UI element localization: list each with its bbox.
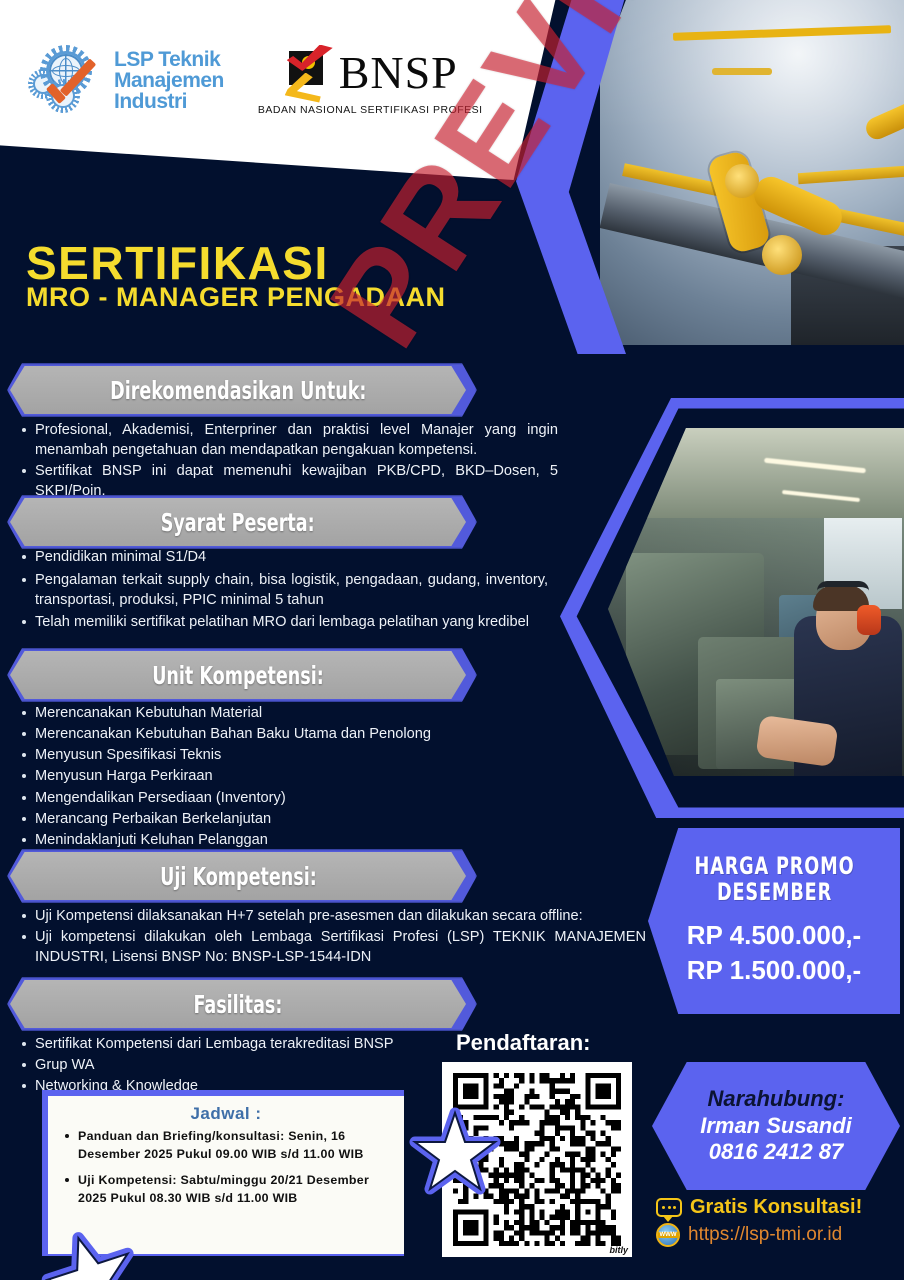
- list-item: Grup WA: [18, 1055, 458, 1075]
- list-syarat: Pendidikan minimal S1/D4 Pengalaman terk…: [18, 547, 548, 635]
- website-url[interactable]: https://lsp-tmi.or.id: [688, 1224, 842, 1246]
- promo-heading-line2: DESEMBER: [694, 880, 854, 906]
- contact-name: Irman Susandi: [700, 1113, 852, 1140]
- jadwal-item: Panduan dan Briefing/konsultasi: Senin, …: [62, 1128, 390, 1163]
- qr-brand-label: bitly: [609, 1245, 628, 1255]
- registration-label: Pendaftaran:: [456, 1030, 590, 1056]
- contact-phone: 0816 2412 87: [709, 1139, 844, 1166]
- list-item: Sertifikat Kompetensi dari Lembaga terak…: [18, 1034, 458, 1054]
- gratis-konsultasi-label: Gratis Konsultasi!: [690, 1196, 862, 1219]
- lsp-line-2: Manajemen: [114, 70, 224, 91]
- poster-root: LSP Teknik Manajemen Industri BNSP BADAN…: [0, 0, 904, 1280]
- bnsp-wordmark: BNSP: [339, 51, 458, 95]
- checkmark-icon: [44, 67, 98, 113]
- section-heading-uji: Uji Kompetensi:: [10, 852, 466, 900]
- lsp-logo-text: LSP Teknik Manajemen Industri: [114, 49, 224, 112]
- list-item: Uji kompetensi dilakukan oleh Lembaga Se…: [18, 927, 646, 967]
- promo-price-old: RP 4.500.000,-: [687, 918, 861, 953]
- list-item: Mengendalikan Persediaan (Inventory): [18, 788, 558, 808]
- bnsp-subtitle: BADAN NASIONAL SERTIFIKASI PROFESI: [258, 104, 483, 116]
- logo-bar: LSP Teknik Manajemen Industri BNSP BADAN…: [0, 0, 560, 160]
- contact-links: Gratis Konsultasi! WWW https://lsp-tmi.o…: [656, 1196, 904, 1251]
- bnsp-figure-icon: [283, 45, 335, 101]
- section-heading-direkomendasikan: Direkomendasikan Untuk:: [10, 366, 466, 414]
- globe-www-icon: WWW: [656, 1223, 680, 1247]
- list-item: Merancang Perbaikan Berkelanjutan: [18, 809, 558, 829]
- list-uji-kompetensi: Uji Kompetensi dilaksanakan H+7 setelah …: [18, 906, 646, 968]
- promo-heading-line1: HARGA PROMO: [694, 854, 854, 880]
- list-item: Profesional, Akademisi, Enterpriner dan …: [18, 420, 558, 460]
- list-unit-kompetensi: Merencanakan Kebutuhan Material Merencan…: [18, 703, 558, 851]
- list-item: Pengalaman terkait supply chain, bisa lo…: [18, 570, 548, 610]
- page-subtitle: MRO - MANAGER PENGADAAN: [26, 282, 446, 313]
- bnsp-logo: BNSP BADAN NASIONAL SERTIFIKASI PROFESI: [258, 45, 483, 116]
- list-direkomendasikan: Profesional, Akademisi, Enterpriner dan …: [18, 420, 558, 503]
- promo-price-box: HARGA PROMO DESEMBER RP 4.500.000,- RP 1…: [648, 828, 900, 1014]
- section-heading-fasilitas: Fasilitas:: [10, 980, 466, 1028]
- list-item: Telah memiliki sertifikat pelatihan MRO …: [18, 612, 548, 632]
- jadwal-box: Jadwal : Panduan dan Briefing/konsultasi…: [48, 1096, 404, 1254]
- list-item: Menyusun Harga Perkiraan: [18, 766, 558, 786]
- lsp-line-1: LSP Teknik: [114, 49, 224, 70]
- list-item: Merencanakan Kebutuhan Bahan Baku Utama …: [18, 724, 558, 744]
- lsp-line-3: Industri: [114, 91, 224, 112]
- jadwal-title: Jadwal :: [62, 1104, 390, 1124]
- section-heading-syarat: Syarat Peserta:: [10, 498, 466, 546]
- lsp-logo: LSP Teknik Manajemen Industri: [28, 43, 224, 117]
- contact-hexagon: Narahubung: Irman Susandi 0816 2412 87: [652, 1062, 900, 1190]
- section-heading-unit: Unit Kompetensi:: [10, 651, 466, 699]
- list-item: Uji Kompetensi dilaksanakan H+7 setelah …: [18, 906, 646, 926]
- lsp-gear-icon: [28, 43, 106, 117]
- list-item: Merencanakan Kebutuhan Material: [18, 703, 558, 723]
- narahubung-label: Narahubung:: [708, 1086, 845, 1113]
- factory-robot-photo: [600, 0, 904, 345]
- list-item: Menyusun Spesifikasi Teknis: [18, 745, 558, 765]
- list-item: Pendidikan minimal S1/D4: [18, 547, 548, 567]
- jadwal-item: Uji Kompetensi: Sabtu/minggu 20/21 Desem…: [62, 1172, 390, 1207]
- list-item: Menindaklanjuti Keluhan Pelanggan: [18, 830, 558, 850]
- list-fasilitas: Sertifikat Kompetensi dari Lembaga terak…: [18, 1034, 458, 1097]
- machinist-worker-photo: [608, 428, 904, 776]
- promo-price-new: RP 1.500.000,-: [687, 953, 861, 988]
- chat-bubble-icon: [656, 1198, 682, 1217]
